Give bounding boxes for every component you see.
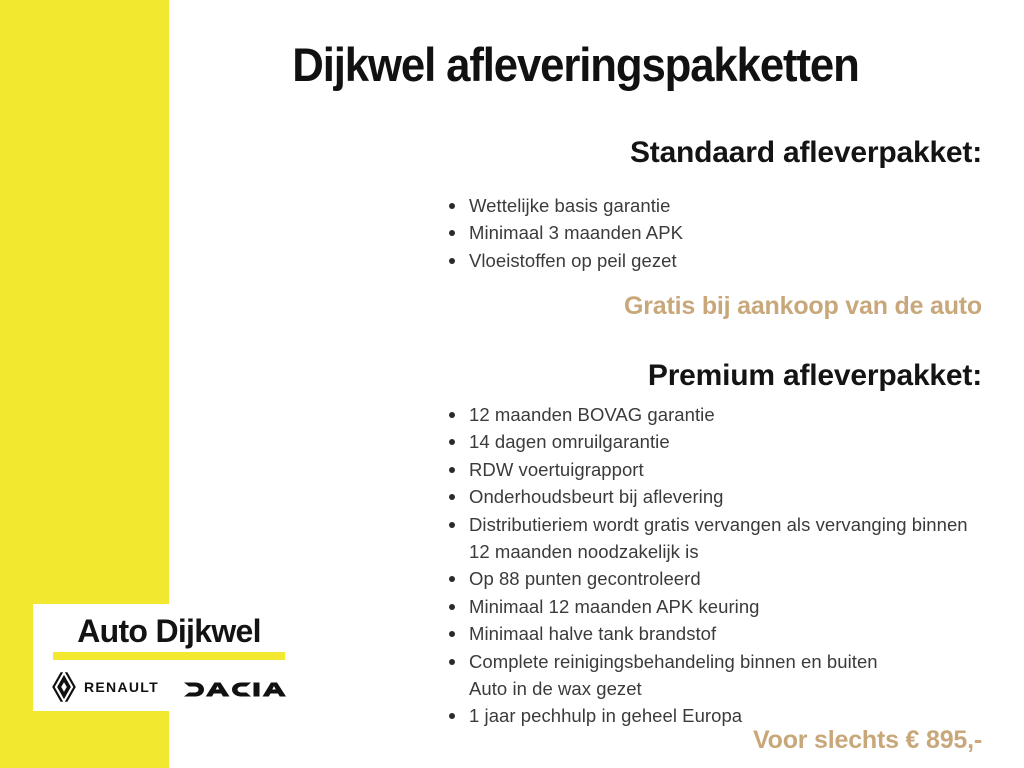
list-item: Minimaal halve tank brandstof — [447, 620, 987, 647]
dacia-logo — [183, 677, 287, 697]
logo-card: Auto Dijkwel RENAULT — [33, 604, 305, 711]
slide-root: Dijkwel afleveringspakketten Standaard a… — [0, 0, 1024, 768]
list-item-continuation: Auto in de wax gezet — [447, 675, 987, 702]
list-item: Complete reinigingsbehandeling binnen en… — [447, 648, 987, 675]
standard-package-list: Wettelijke basis garantie Minimaal 3 maa… — [447, 192, 987, 274]
list-item: Minimaal 3 maanden APK — [447, 219, 987, 246]
list-item: Distributieriem wordt gratis vervangen a… — [447, 511, 987, 566]
premium-package-list: 12 maanden BOVAG garantie 14 dagen omrui… — [447, 401, 987, 730]
premium-package-heading: Premium afleverpakket: — [169, 359, 982, 392]
renault-logo: RENAULT — [51, 671, 159, 703]
list-item: Vloeistoffen op peil gezet — [447, 247, 987, 274]
premium-package-price: Voor slechts € 895,- — [169, 727, 982, 755]
list-item: 12 maanden BOVAG garantie — [447, 401, 987, 428]
list-item: Minimaal 12 maanden APK keuring — [447, 593, 987, 620]
renault-diamond-icon — [51, 671, 77, 703]
list-item: 14 dagen omruilgarantie — [447, 428, 987, 455]
standard-package-tagline: Gratis bij aankoop van de auto — [169, 293, 982, 321]
renault-label: RENAULT — [84, 679, 159, 695]
logo-yellow-rule — [53, 652, 285, 660]
list-item: Op 88 punten gecontroleerd — [447, 565, 987, 592]
page-title: Dijkwel afleveringspakketten — [197, 40, 953, 89]
list-item: Wettelijke basis garantie — [447, 192, 987, 219]
list-item: Onderhoudsbeurt bij aflevering — [447, 483, 987, 510]
standard-package-heading: Standaard afleverpakket: — [169, 136, 982, 169]
logo-brand-row: RENAULT — [45, 671, 293, 703]
list-item: RDW voertuigrapport — [447, 456, 987, 483]
logo-wordmark: Auto Dijkwel — [45, 613, 293, 649]
